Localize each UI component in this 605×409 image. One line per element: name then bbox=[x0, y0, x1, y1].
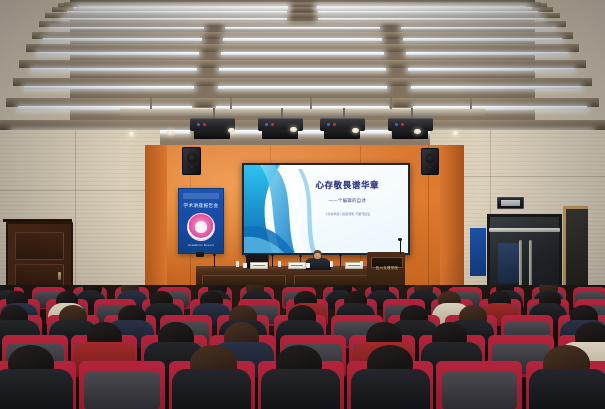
truss-leg bbox=[470, 96, 472, 109]
ceiling-light-tube bbox=[223, 38, 382, 41]
door-interior-glow bbox=[498, 243, 520, 283]
emblem-inner-mark bbox=[195, 221, 207, 233]
ceiling-light-tube bbox=[408, 68, 574, 71]
proscenium-right bbox=[440, 145, 464, 295]
ceiling-light-tube bbox=[219, 68, 385, 71]
table-microphone-5 bbox=[340, 256, 341, 267]
lectern-mic-head bbox=[398, 238, 402, 241]
audience-shoulders bbox=[261, 369, 340, 409]
lectern-nameplate: 四川文理学院 bbox=[371, 257, 403, 268]
lighting-truss bbox=[120, 108, 485, 116]
cup-1 bbox=[243, 263, 247, 268]
downlight-6 bbox=[452, 131, 459, 136]
ceiling-light-tube bbox=[401, 27, 556, 29]
ceiling-light-tube bbox=[411, 86, 581, 90]
downlight-5 bbox=[414, 129, 421, 134]
microphone-head bbox=[339, 254, 342, 256]
name-card-1 bbox=[250, 262, 268, 269]
audience-shoulders bbox=[351, 369, 430, 409]
exit-door-push-bar[interactable] bbox=[489, 228, 560, 232]
ceiling-light-tube bbox=[73, 7, 288, 9]
ceiling-light-tube bbox=[43, 38, 202, 41]
stage-light-4 bbox=[388, 118, 433, 139]
ceiling-light-tube bbox=[406, 52, 568, 55]
slide-footer: 《高校学报》投稿须知 与期刊建设 bbox=[290, 212, 405, 216]
ceiling-light-tube bbox=[221, 52, 383, 55]
auditorium-seat bbox=[436, 361, 522, 409]
slide-text-block: 心存敬畏谱华章 ——个编辑的自述 《高校学报》投稿须知 与期刊建设 bbox=[290, 179, 405, 216]
ceiling-light-tube bbox=[317, 7, 532, 9]
banner-footer: Academic Report bbox=[179, 243, 223, 247]
name-card-2 bbox=[288, 262, 306, 269]
lectern-mic-stem bbox=[400, 240, 401, 254]
truss-leg bbox=[310, 96, 312, 109]
audience-shoulders bbox=[529, 369, 605, 409]
table-microphone-3 bbox=[272, 256, 273, 267]
downlight-7 bbox=[128, 132, 135, 137]
projection-screen: 心存敬畏谱华章 ——个编辑的自述 《高校学报》投稿须知 与期刊建设 bbox=[242, 163, 410, 255]
ceiling-light-tube bbox=[37, 52, 199, 55]
ceiling-light-tube bbox=[61, 18, 288, 20]
exit-sign-face bbox=[501, 200, 520, 206]
water-bottle-3 bbox=[330, 261, 333, 267]
ceiling-light-tube bbox=[49, 27, 204, 29]
proscenium-left bbox=[145, 145, 167, 295]
auditorium-seat bbox=[79, 361, 165, 409]
ceiling-light-tube bbox=[24, 86, 194, 90]
banner-title: 学术讲座报告会 bbox=[179, 203, 223, 209]
downlight-2 bbox=[228, 128, 235, 133]
downlight-4 bbox=[352, 128, 359, 133]
lectern-plate-text: 四川文理学院 bbox=[372, 265, 402, 270]
loudspeaker-right bbox=[421, 148, 439, 175]
slide-subtitle: ——个编辑的自述 bbox=[290, 198, 405, 204]
table-microphone-1 bbox=[214, 256, 215, 267]
water-bottle-2 bbox=[278, 261, 281, 267]
loudspeaker-left bbox=[182, 147, 201, 175]
auditorium-scene: 心存敬畏谱华章 ——个编辑的自述 《高校学报》投稿须知 与期刊建设 学术讲座报告… bbox=[0, 0, 605, 409]
downlight-1 bbox=[167, 130, 174, 135]
truss-leg bbox=[390, 96, 392, 109]
left-door-handle[interactable] bbox=[58, 272, 61, 280]
wall-seam bbox=[0, 190, 160, 191]
presentation-slide: 心存敬畏谱华章 ——个编辑的自述 《高校学报》投稿须知 与期刊建设 bbox=[244, 165, 408, 253]
banner-top-strip bbox=[183, 193, 219, 199]
audience-area bbox=[0, 285, 605, 409]
ceiling-light-tube bbox=[318, 18, 545, 20]
ceiling-light-tube bbox=[403, 38, 562, 41]
ceiling-light-tube bbox=[218, 86, 388, 90]
wall-poster bbox=[470, 228, 486, 276]
truss-leg bbox=[150, 96, 152, 109]
microphone-head bbox=[271, 254, 274, 256]
ceiling-light-tube bbox=[67, 11, 288, 13]
cup-2 bbox=[306, 263, 310, 268]
microphone-head bbox=[213, 254, 216, 256]
speaker-face bbox=[314, 253, 321, 259]
slide-title: 心存敬畏谱华章 bbox=[290, 179, 405, 191]
water-bottle-1 bbox=[236, 261, 239, 267]
rollup-banner: 学术讲座报告会 Academic Report bbox=[178, 188, 224, 254]
water-bottle-4 bbox=[360, 261, 363, 267]
banner-stand bbox=[196, 252, 204, 257]
ceiling-light-tube bbox=[31, 68, 197, 71]
ceiling-light-tube bbox=[225, 27, 380, 29]
ceiling-light-tube bbox=[318, 11, 539, 13]
microphone-head bbox=[245, 255, 248, 257]
university-emblem-icon bbox=[187, 213, 215, 241]
truss-leg bbox=[230, 96, 232, 109]
microphone-head bbox=[299, 255, 302, 257]
downlight-3 bbox=[290, 127, 297, 132]
exit-sign-icon bbox=[497, 197, 524, 209]
audience-shoulders bbox=[172, 369, 251, 409]
audience-shoulders bbox=[0, 369, 73, 409]
